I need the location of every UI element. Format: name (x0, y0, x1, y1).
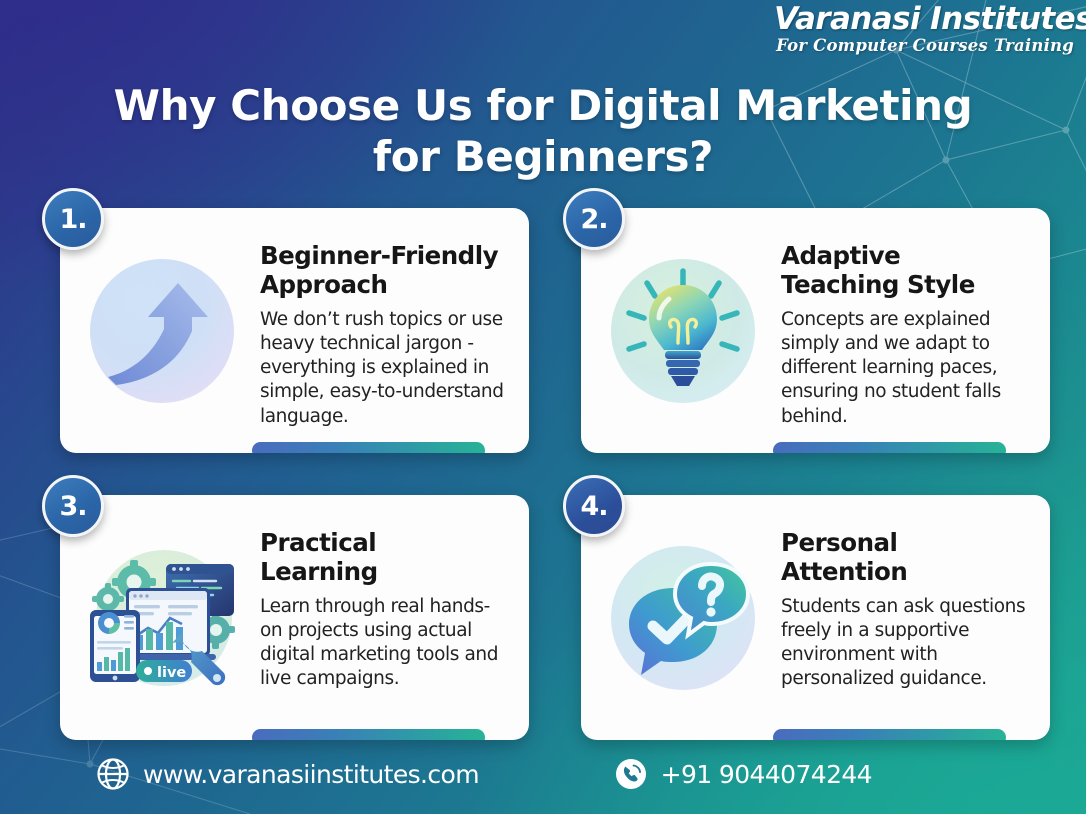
card-title-1-line2: Approach (260, 270, 387, 299)
card-body-4: Students can ask questions freely in a s… (781, 595, 1028, 691)
footer-contact-bar: www.varanasiinstitutes.com +91 904407424… (0, 744, 1086, 804)
footer-website[interactable]: www.varanasiinstitutes.com (96, 757, 479, 791)
card-title-1: Beginner-Friendly Approach (260, 242, 507, 299)
card-accent-bar-1 (252, 442, 485, 453)
card-number-badge-2: 2. (563, 188, 625, 250)
card-body-3: Learn through real hands-on projects usi… (260, 595, 507, 691)
poster-canvas: Varanasi Institutes™ For Computer Course… (0, 0, 1086, 814)
feature-card-4: 4. (581, 495, 1050, 740)
page-title-line-1: Why Choose Us for Digital Marketing (114, 81, 973, 130)
card-text-4: Personal Attention Students can ask ques… (777, 495, 1050, 692)
feature-card-2: 2. (581, 208, 1050, 453)
page-title: Why Choose Us for Digital Marketing for … (0, 80, 1086, 182)
feature-card-1: 1. (60, 208, 529, 453)
card-title-3-line1: Practical (260, 528, 376, 557)
feature-card-grid: 1. (60, 208, 1050, 740)
live-badge-label: live (157, 665, 186, 681)
card-text-1: Beginner-Friendly Approach We don’t rush… (256, 208, 529, 429)
card-body-1: We don’t rush topics or use heavy techni… (260, 308, 507, 428)
card-surface-2[interactable]: Adaptive Teaching Style Concepts are exp… (581, 208, 1050, 453)
card-number-badge-3: 3. (42, 475, 104, 537)
feature-card-3: 3. (60, 495, 529, 740)
card-accent-bar-3 (252, 729, 485, 740)
phone-icon (614, 757, 648, 791)
card-title-2-line1: Adaptive (781, 241, 900, 270)
card-title-1-line1: Beginner-Friendly (260, 241, 498, 270)
card-number-badge-1: 1. (42, 188, 104, 250)
card-surface-3[interactable]: live Practical Learning Learn through re… (60, 495, 529, 740)
card-accent-bar-4 (773, 729, 1006, 740)
card-title-3-line2: Learning (260, 557, 378, 586)
card-title-3: Practical Learning (260, 529, 507, 586)
globe-icon (96, 757, 130, 791)
phone-text: +91 9044074244 (661, 760, 872, 789)
card-surface-4[interactable]: Personal Attention Students can ask ques… (581, 495, 1050, 740)
brand-name: Varanasi Institutes™ (774, 4, 1074, 35)
card-title-2-line2: Teaching Style (781, 270, 975, 299)
card-title-4-line2: Attention (781, 557, 907, 586)
card-title-4-line1: Personal (781, 528, 897, 557)
brand-name-text: Varanasi Institutes (774, 1, 1086, 37)
brand-logo: Varanasi Institutes™ For Computer Course… (774, 4, 1074, 55)
brand-tagline: For Computer Courses Training (774, 38, 1074, 55)
card-body-2: Concepts are explained simply and we ada… (781, 308, 1028, 428)
card-title-2: Adaptive Teaching Style (781, 242, 1028, 299)
card-accent-bar-2 (773, 442, 1006, 453)
card-title-4: Personal Attention (781, 529, 1028, 586)
card-number-badge-4: 4. (563, 475, 625, 537)
footer-phone[interactable]: +91 9044074244 (614, 757, 872, 791)
page-title-line-2: for Beginners? (60, 131, 1026, 182)
card-text-3: Practical Learning Learn through real ha… (256, 495, 529, 692)
card-surface-1[interactable]: Beginner-Friendly Approach We don’t rush… (60, 208, 529, 453)
website-text: www.varanasiinstitutes.com (143, 760, 479, 789)
card-text-2: Adaptive Teaching Style Concepts are exp… (777, 208, 1050, 429)
